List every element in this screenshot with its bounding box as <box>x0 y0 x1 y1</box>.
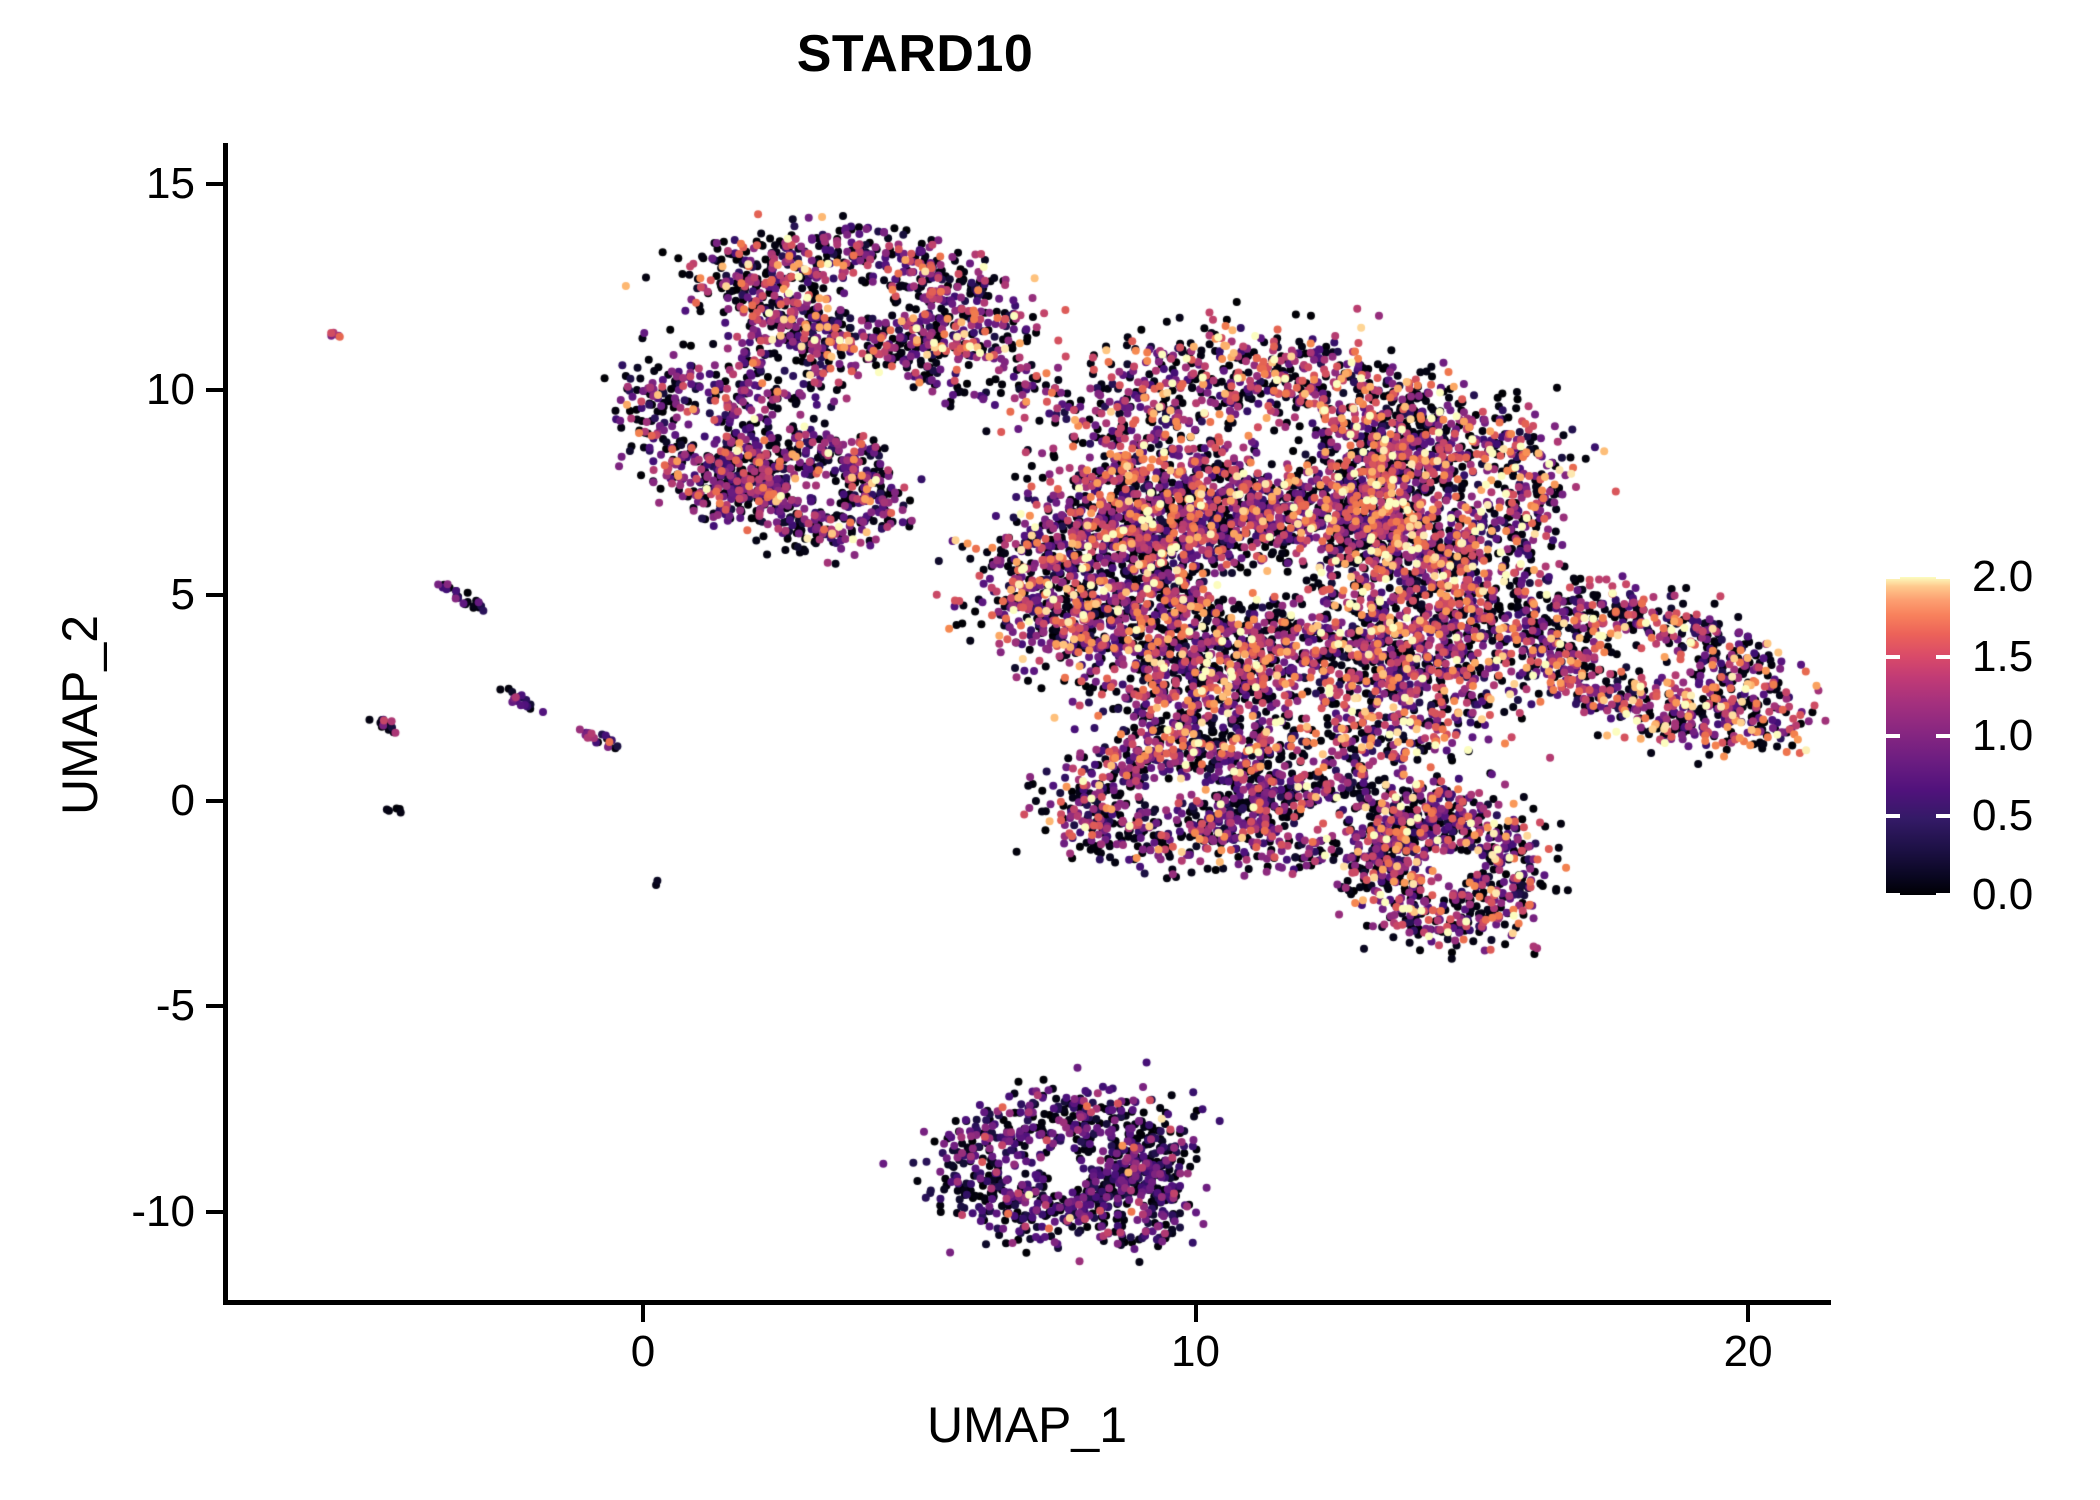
colorbar-tick-mark <box>1886 734 1900 738</box>
colorbar-tick-mark <box>1886 575 1900 579</box>
colorbar-tick-mark <box>1886 814 1900 818</box>
x-tick-mark <box>1746 1305 1750 1322</box>
colorbar-tick-mark <box>1886 893 1900 897</box>
colorbar-tick-mark <box>1886 655 1900 659</box>
colorbar-tick-label: 0.0 <box>1972 873 2033 917</box>
y-tick-mark <box>206 1210 223 1214</box>
x-tick-label: 20 <box>1668 1330 1828 1374</box>
colorbar-tick-label: 2.0 <box>1972 555 2033 599</box>
chart-root: STARD10 -10-5051015 01020 UMAP_1 UMAP_2 … <box>0 0 2100 1500</box>
colorbar-tick-mark <box>1936 814 1950 818</box>
colorbar-legend: 2.01.51.00.50.0 <box>1880 570 2090 910</box>
x-tick-label: 10 <box>1116 1330 1276 1374</box>
y-tick-label: 15 <box>75 162 195 206</box>
scatter-plot-canvas <box>0 0 2100 1500</box>
y-axis-title: UMAP_2 <box>55 395 105 1035</box>
y-tick-mark <box>206 593 223 597</box>
plot-area <box>0 0 2100 1500</box>
y-axis-line <box>223 143 228 1305</box>
colorbar-tick-mark <box>1936 575 1950 579</box>
x-tick-label: 0 <box>563 1330 723 1374</box>
colorbar-tick-mark <box>1936 734 1950 738</box>
colorbar-tick-label: 0.5 <box>1972 794 2033 838</box>
y-tick-label: -10 <box>75 1190 195 1234</box>
x-tick-mark <box>1194 1305 1198 1322</box>
y-tick-mark <box>206 799 223 803</box>
x-axis-line <box>223 1300 1831 1305</box>
y-tick-mark <box>206 182 223 186</box>
y-tick-mark <box>206 388 223 392</box>
colorbar-tick-mark <box>1936 893 1950 897</box>
x-axis-title: UMAP_1 <box>223 1400 1831 1450</box>
y-tick-mark <box>206 1004 223 1008</box>
colorbar-tick-label: 1.0 <box>1972 714 2033 758</box>
x-tick-mark <box>641 1305 645 1322</box>
colorbar-tick-label: 1.5 <box>1972 635 2033 679</box>
colorbar-tick-mark <box>1936 655 1950 659</box>
